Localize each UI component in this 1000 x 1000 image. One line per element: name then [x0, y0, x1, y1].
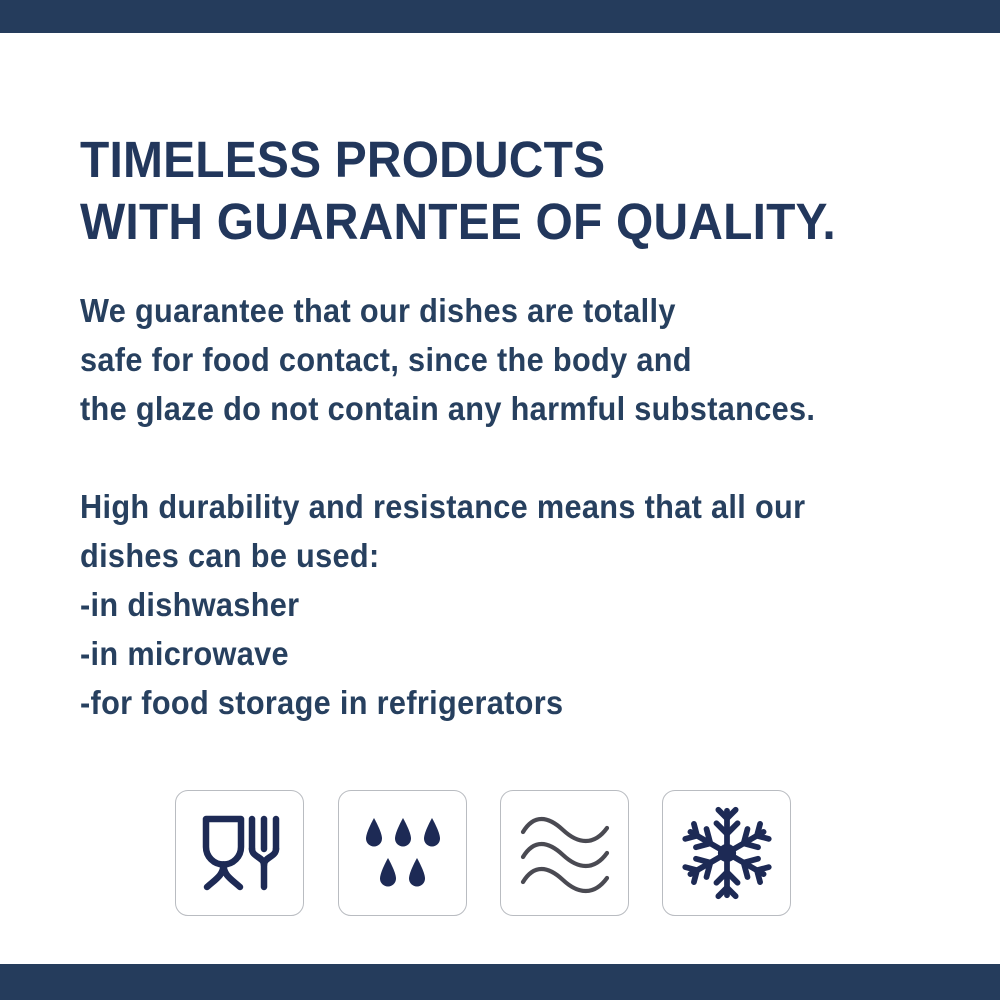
page-title: TIMELESS PRODUCTS WITH GUARANTEE OF QUAL… — [80, 129, 836, 253]
durability-line-1: High durability and resistance means tha… — [80, 482, 805, 531]
bottom-navy-bar — [0, 964, 1000, 1000]
top-navy-bar — [0, 0, 1000, 33]
durability-line-2: dishes can be used: — [80, 531, 805, 580]
promo-page: TIMELESS PRODUCTS WITH GUARANTEE OF QUAL… — [0, 0, 1000, 1000]
microwave-safe-icon-box — [500, 790, 629, 916]
usage-item-microwave: -in microwave — [80, 629, 805, 678]
dishwasher-safe-icon-box — [338, 790, 467, 916]
freezer-safe-icon — [679, 805, 775, 901]
food-safe-icon-box — [175, 790, 304, 916]
microwave-safe-icon — [518, 810, 612, 896]
durability-paragraph: High durability and resistance means tha… — [80, 482, 805, 727]
page-title-line-2: WITH GUARANTEE OF QUALITY. — [80, 191, 836, 253]
guarantee-line-3: the glaze do not contain any harmful sub… — [80, 384, 815, 433]
guarantee-paragraph: We guarantee that our dishes are totally… — [80, 286, 815, 433]
usage-item-dishwasher: -in dishwasher — [80, 580, 805, 629]
page-title-line-1: TIMELESS PRODUCTS — [80, 129, 836, 191]
dishwasher-safe-icon — [360, 810, 446, 896]
guarantee-line-2: safe for food contact, since the body an… — [80, 335, 815, 384]
freezer-safe-icon-box — [662, 790, 791, 916]
usage-item-refrigerator: -for food storage in refrigerators — [80, 678, 805, 727]
food-safe-icon — [194, 807, 286, 899]
certification-icon-strip — [175, 790, 791, 916]
guarantee-line-1: We guarantee that our dishes are totally — [80, 286, 815, 335]
